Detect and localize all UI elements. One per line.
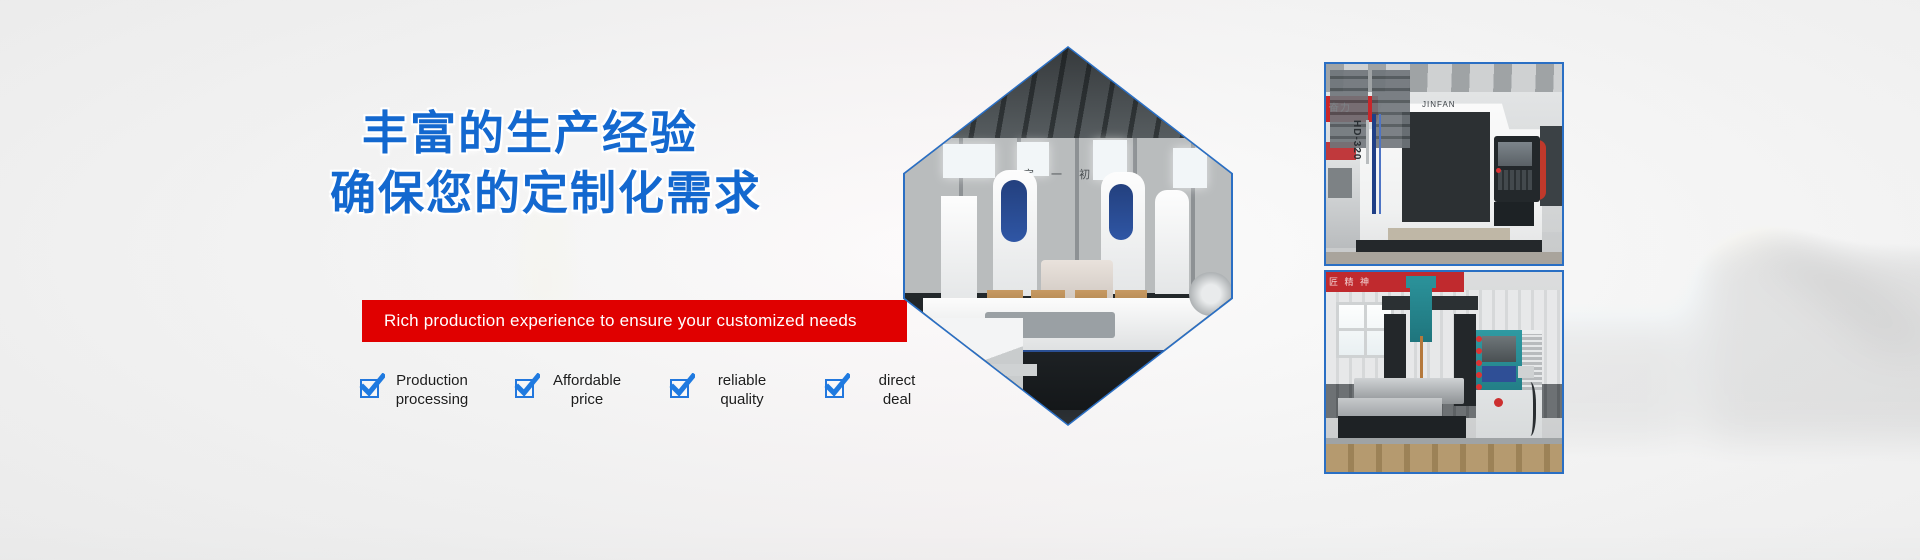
feature-item-label: reliablequality <box>699 372 785 410</box>
hmc-accent-stripe-thin <box>1379 114 1381 214</box>
workshop-roof-shade <box>905 48 1231 140</box>
edm-push-button <box>1476 336 1482 342</box>
hmc-door-window <box>1372 70 1410 148</box>
edm-emergency-stop-button <box>1494 398 1503 407</box>
machine-green-indicator <box>955 378 962 385</box>
feature-label-line-1: reliable <box>718 372 766 389</box>
subtitle-bar: Rich production experience to ensure you… <box>362 300 907 342</box>
edm-cable <box>1522 382 1536 436</box>
workshop-window <box>1173 148 1207 188</box>
machine-panel <box>1001 180 1027 242</box>
checkbox-checked-icon <box>360 379 379 398</box>
feature-item: Affordableprice <box>515 372 630 410</box>
machine-column <box>1155 190 1189 294</box>
feature-item-label: Productionprocessing <box>389 372 475 410</box>
edm-push-button <box>1476 360 1482 366</box>
edm-push-button <box>1476 372 1482 378</box>
edm-wall-banner: 匠 精 神 <box>1326 272 1464 292</box>
checkbox-checked-icon <box>825 379 844 398</box>
machine-rail <box>921 364 1037 376</box>
headline-line-1: 丰富的生产经验 <box>330 104 730 164</box>
headline-line-2: 确保您的定制化需求 <box>330 164 730 224</box>
edm-control-panel-secondary <box>1518 366 1534 378</box>
thumbnail-photo-bottom: 匠 精 神 <box>1324 270 1564 474</box>
edm-wall-banner-text: 匠 精 神 <box>1329 277 1371 287</box>
machine-base-plinth <box>939 352 1201 410</box>
feature-label-line-2: quality <box>720 391 763 408</box>
hmc-adjacent-machine-panel <box>1328 168 1352 198</box>
checkbox-checked-icon <box>670 379 689 398</box>
hexagon-photo: 定 一 初 <box>903 46 1233 426</box>
hmc-doors <box>1402 112 1490 222</box>
banner-copy-block: 丰富的生产经验 确保您的定制化需求 Rich production experi… <box>0 0 940 560</box>
machine-red-indicator <box>971 378 978 385</box>
hmc-door-handle <box>1366 120 1369 164</box>
thumbnail-photo-top: 奋力 JINFAN HD-320 <box>1324 62 1564 266</box>
hmc-accent-stripe <box>1372 114 1376 214</box>
hmc-brand-label: JINFAN <box>1422 100 1456 109</box>
edm-control-screen <box>1482 336 1516 362</box>
promotional-banner: 丰富的生产经验 确保您的定制化需求 Rich production experi… <box>0 0 1920 560</box>
edm-push-button <box>1476 348 1482 354</box>
feature-label-line-2: processing <box>396 391 469 408</box>
headline: 丰富的生产经验 确保您的定制化需求 <box>330 104 730 224</box>
feature-label-line-2: price <box>571 391 604 408</box>
hmc-model-label: HD-320 <box>1351 120 1362 160</box>
hmc-floor <box>1326 252 1562 266</box>
feature-label-line-1: Production <box>396 372 468 389</box>
edm-control-panel <box>1482 366 1516 382</box>
hexagon-photo-image: 定 一 初 <box>905 48 1231 424</box>
feature-item-label: Affordableprice <box>544 372 630 410</box>
edm-cutting-head <box>1410 282 1432 342</box>
machine-conveyor <box>933 318 1023 396</box>
hmc-control-pendant <box>1494 202 1534 226</box>
hmc-emergency-stop-button <box>1496 168 1501 173</box>
edm-wooden-pallet <box>1326 444 1564 474</box>
edm-button-strip <box>1476 334 1483 390</box>
feature-label-line-1: Affordable <box>553 372 621 389</box>
feature-list: Productionprocessing Affordableprice rel… <box>360 372 940 410</box>
hmc-control-screen <box>1498 142 1532 166</box>
hmc-door-window <box>1330 70 1368 148</box>
machine-panel <box>1109 184 1133 240</box>
edm-push-button <box>1476 384 1482 390</box>
machine-coil <box>1189 272 1231 316</box>
hmc-control-keypad <box>1498 170 1532 190</box>
workshop-window <box>943 144 995 178</box>
subtitle-bar-text: Rich production experience to ensure you… <box>384 311 857 331</box>
feature-item: Productionprocessing <box>360 372 475 410</box>
checkbox-checked-icon <box>515 379 534 398</box>
thumbnail-column: 奋力 JINFAN HD-320 <box>1324 62 1564 474</box>
feature-item: reliablequality <box>670 372 785 410</box>
machine-column <box>941 196 977 304</box>
